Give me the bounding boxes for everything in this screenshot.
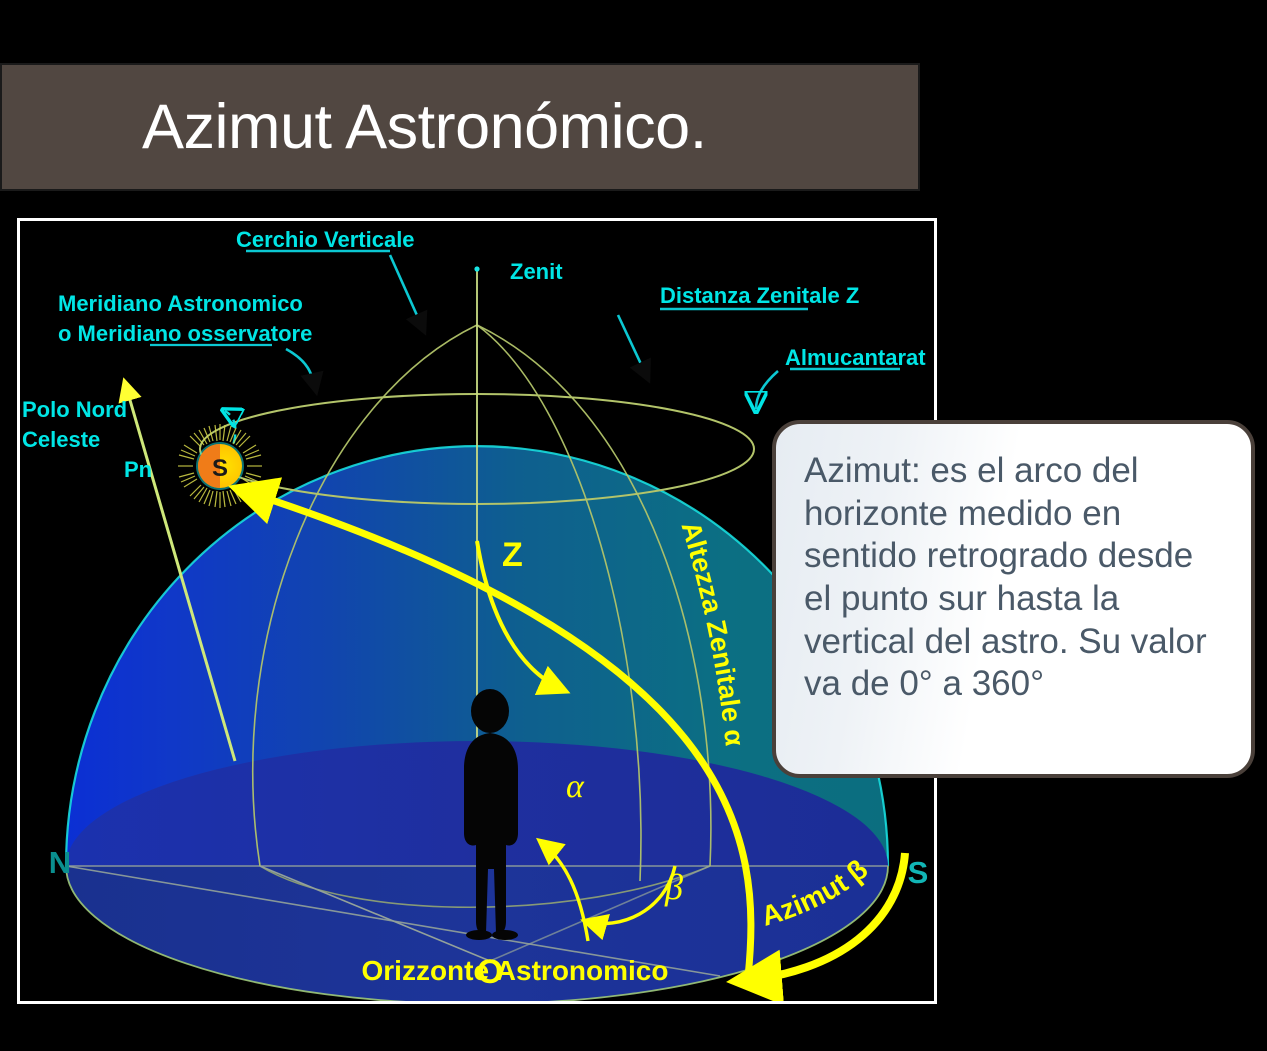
callout-body-text: Azimut: es el arco del horizonte medido … <box>804 450 1225 706</box>
azimut-definition-callout: Azimut: es el arco del horizonte medido … <box>772 420 1255 778</box>
z-angle-label: Z <box>502 536 523 574</box>
cardinal-south-label: S <box>908 855 929 890</box>
horizon-caption: Orizzonte Astronomico <box>362 955 669 986</box>
meridiano-osservatore-label: o Meridiano osservatore <box>58 321 312 346</box>
polo-nord-label: Polo Nord <box>22 397 127 422</box>
almucantarat-label: Almucantarat <box>785 345 926 370</box>
pn-label: Pn <box>124 457 152 482</box>
page-title: Azimut Astronómico. <box>142 96 707 159</box>
sun-label: S <box>212 455 228 482</box>
zenit-label: Zenit <box>510 259 563 284</box>
title-banner: Azimut Astronómico. <box>0 63 920 191</box>
meridiano-astronomico-label: Meridiano Astronomico <box>58 291 303 316</box>
cardinal-north-label: N <box>49 845 71 880</box>
alpha-angle-label: α <box>566 768 585 805</box>
distanza-zenitale-label: Distanza Zenitale Z <box>660 283 859 308</box>
beta-angle-label: β <box>664 867 683 907</box>
polo-celeste-label: Celeste <box>22 427 100 452</box>
cerchio-verticale-label: Cerchio Verticale <box>236 227 415 252</box>
